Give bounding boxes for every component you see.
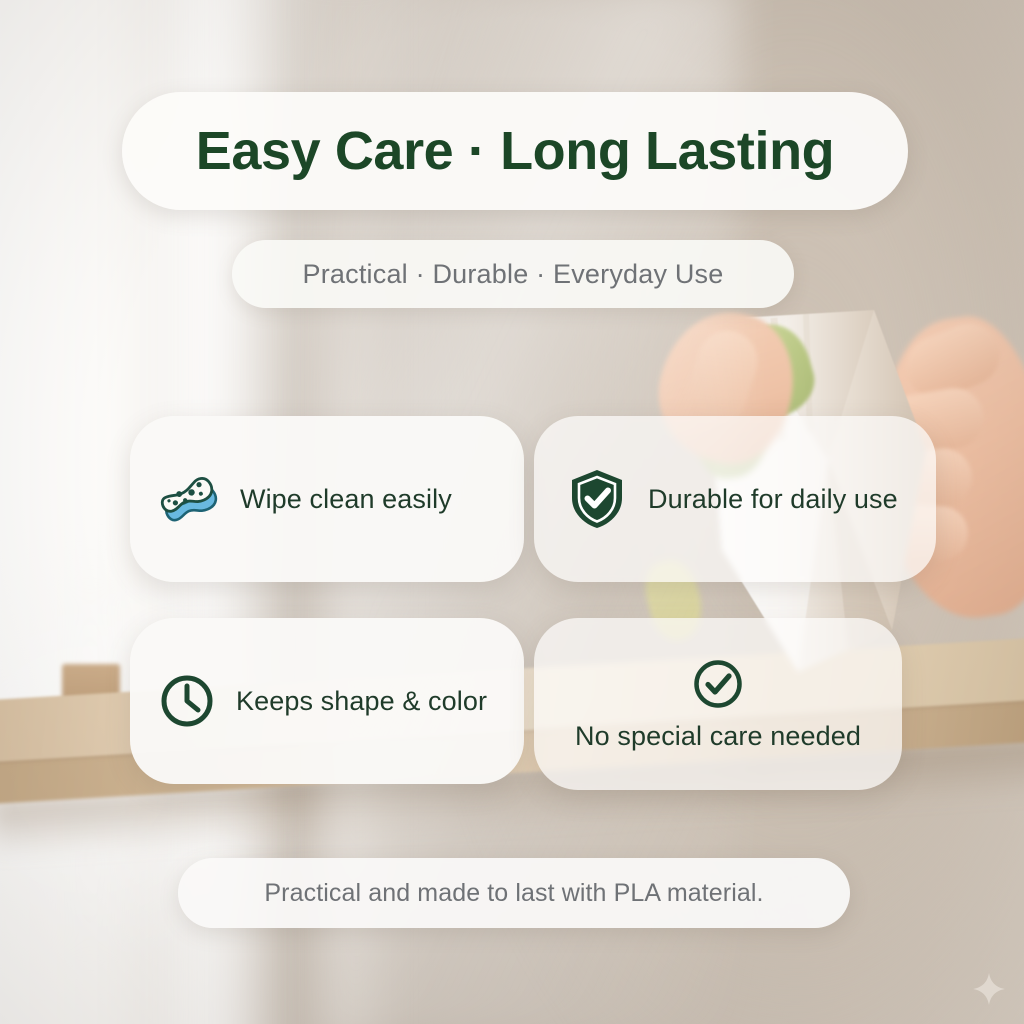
feature-card-keeps-shape[interactable]: Keeps shape & color: [130, 618, 524, 784]
clock-icon: [158, 672, 216, 730]
footer-pill: Practical and made to last with PLA mate…: [178, 858, 850, 928]
feature-card-durable[interactable]: Durable for daily use: [534, 416, 936, 582]
feature-label: Keeps shape & color: [236, 686, 487, 717]
overlay-layer: Easy Care · Long Lasting Practical · Dur…: [0, 0, 1024, 1024]
sparkle-icon: [972, 972, 1006, 1006]
feature-card-no-special-care[interactable]: No special care needed: [534, 618, 902, 790]
feature-card-wipe-clean[interactable]: Wipe clean easily: [130, 416, 524, 582]
infographic-canvas: Easy Care · Long Lasting Practical · Dur…: [0, 0, 1024, 1024]
feature-label: No special care needed: [575, 721, 861, 752]
feature-label: Durable for daily use: [648, 484, 898, 515]
check-circle-icon: [691, 657, 745, 711]
sponge-icon: [158, 468, 220, 530]
footer-text: Practical and made to last with PLA mate…: [264, 879, 763, 908]
shield-check-icon: [568, 468, 626, 530]
feature-label: Wipe clean easily: [240, 484, 452, 515]
